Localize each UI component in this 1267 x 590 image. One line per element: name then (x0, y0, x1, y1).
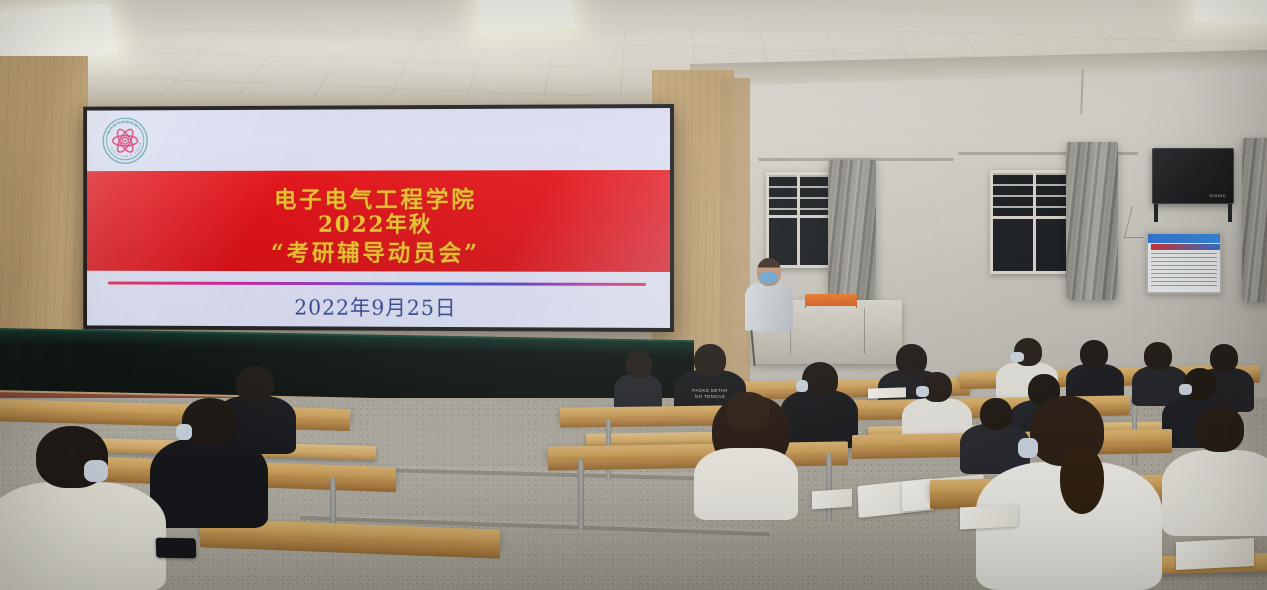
wall-notice-board (1146, 232, 1222, 294)
person-body (0, 482, 166, 590)
notice-text-block (1151, 253, 1217, 286)
person-head (694, 344, 726, 376)
ponytail (1060, 448, 1104, 514)
svg-text:·: · (109, 153, 110, 156)
window-mullion (797, 175, 800, 265)
lecture-hall-photo: ·· ·· 电子电气工程学院 ELECTRONIC ENGINEERING 电子… (0, 0, 1267, 590)
slide-top-area (87, 108, 670, 171)
speaker-bracket (1228, 204, 1232, 222)
smartphone-on-desk (156, 538, 197, 559)
podium-front-panel (806, 306, 856, 362)
projection-screen: ·· ·· 电子电气工程学院 ELECTRONIC ENGINEERING 电子… (83, 104, 674, 332)
person-head (802, 362, 838, 398)
speaker-bracket (1154, 204, 1158, 222)
person-body (1162, 450, 1267, 536)
person-head (1196, 406, 1244, 452)
center-wood-panel-seam (720, 78, 750, 388)
slide-surface: ·· ·· 电子电气工程学院 ELECTRONIC ENGINEERING 电子… (87, 108, 670, 328)
desk-leg (578, 460, 584, 530)
person-body (780, 390, 858, 448)
university-atom-emblem-icon: ·· ·· 电子电气工程学院 ELECTRONIC ENGINEERING (100, 116, 150, 167)
notice-subheader-bar (1151, 244, 1221, 250)
person-head (626, 350, 652, 378)
person-head (236, 366, 274, 402)
window-blind (993, 173, 1069, 218)
svg-text:·: · (139, 153, 140, 156)
curtain (1242, 138, 1267, 302)
person-head (980, 398, 1012, 430)
svg-text:电子电气工程学院: 电子电气工程学院 (106, 119, 140, 135)
curtain (828, 160, 876, 302)
person-head (726, 392, 770, 430)
paper-sheet (960, 504, 1018, 529)
slide-date: 2022年9月25日 (87, 291, 670, 323)
person-head (1210, 344, 1238, 372)
person-head (1144, 342, 1172, 370)
presenter-face-mask (759, 272, 778, 283)
curtain (1066, 142, 1118, 300)
face-mask (1010, 352, 1024, 362)
face-mask (1179, 384, 1192, 395)
person-head (1080, 340, 1108, 368)
face-mask (1018, 438, 1038, 458)
wall-speaker-icon: SOUND (1152, 148, 1234, 204)
notice-header-bar (1148, 234, 1220, 243)
face-mask (796, 380, 808, 392)
window (766, 172, 832, 268)
paper-sheet (812, 489, 852, 510)
speaker-brand-label: SOUND (1210, 193, 1226, 198)
panel-light-icon (1194, 0, 1267, 24)
window-rail (993, 216, 1069, 219)
panel-light-icon (0, 4, 118, 64)
presenter-body (745, 283, 793, 331)
desk-leg (826, 454, 832, 522)
window-mullion (1033, 173, 1036, 271)
face-mask (916, 386, 929, 397)
slide-title-line3: “考研辅导动员会” (87, 234, 670, 268)
paper-sheet (868, 387, 906, 398)
window (990, 170, 1072, 274)
podium-seam (864, 308, 865, 354)
person-head (896, 344, 927, 375)
paper-sheet (1176, 538, 1254, 570)
person-body (150, 438, 268, 528)
person-head (182, 398, 238, 446)
tshirt-print: PACKS NETAR NO TENGAS (688, 388, 732, 399)
person-body (694, 448, 798, 520)
face-mask (176, 424, 192, 440)
face-mask (84, 460, 108, 482)
